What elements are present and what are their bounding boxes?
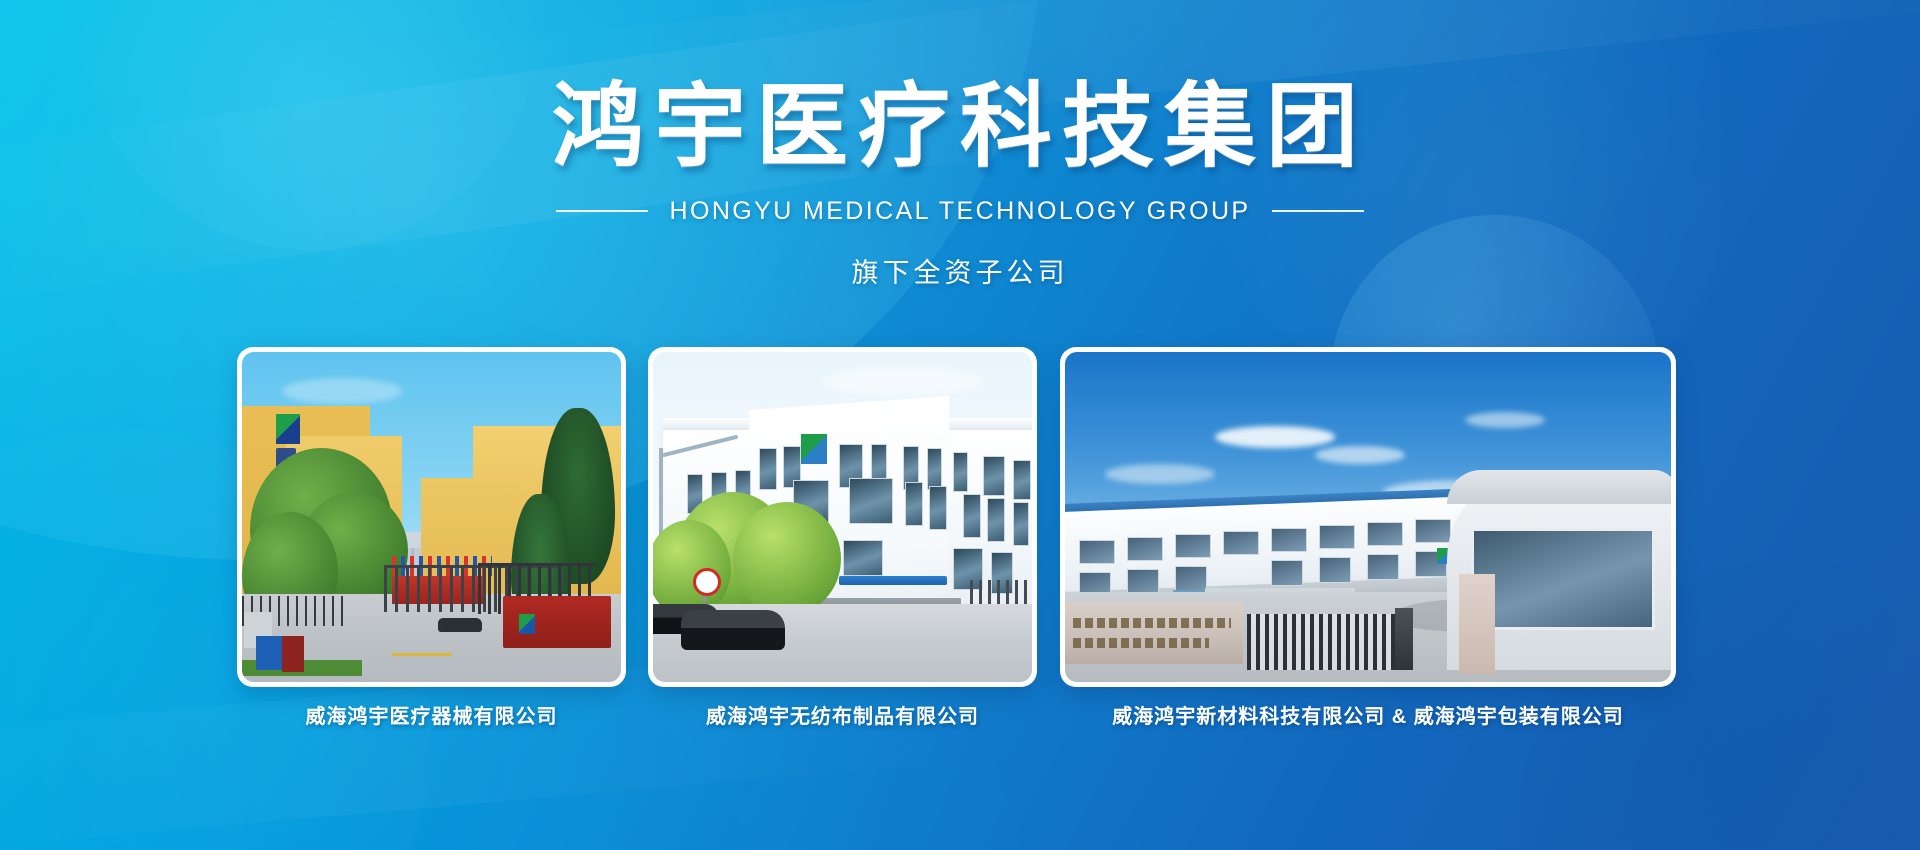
stone-sign-logo-icon (519, 614, 535, 634)
divider-line-right (1272, 210, 1364, 212)
parked-car (438, 618, 482, 632)
window (963, 494, 981, 538)
retractable-gate (1247, 614, 1397, 670)
building-logo-icon (801, 434, 827, 464)
caption-subsidiary-1: 威海鸿宇医疗器械有限公司 (237, 700, 626, 729)
cloud (823, 366, 983, 396)
cloud (1215, 426, 1335, 448)
blue-bin (256, 636, 282, 670)
window (1013, 502, 1029, 546)
subtitle-english: HONGYU MEDICAL TECHNOLOGY GROUP (670, 197, 1251, 226)
building-logo-icon (276, 414, 300, 444)
subsidiary-card-list (0, 347, 1920, 687)
red-bin (282, 636, 304, 672)
banner-header: 鸿宇医疗科技集团 HONGYU MEDICAL TECHNOLOGY GROUP… (0, 0, 1920, 290)
window (1271, 528, 1307, 552)
window (953, 452, 968, 492)
cloud (1105, 464, 1215, 484)
photo-new-materials-packaging-plant (1065, 352, 1671, 682)
cloud (1315, 446, 1405, 464)
window (927, 448, 942, 490)
window (983, 456, 1005, 496)
window (1013, 460, 1031, 500)
wall-inscription-line-1 (1073, 618, 1231, 628)
photo-nonwoven-office-building (653, 352, 1032, 682)
caption-subsidiary-2: 威海鸿宇无纺布制品有限公司 (648, 700, 1037, 729)
divider-line-left (556, 210, 648, 212)
caption-row: 威海鸿宇医疗器械有限公司 威海鸿宇无纺布制品有限公司 威海鸿宇新材料科技有限公司… (0, 700, 1920, 740)
window (1367, 522, 1403, 546)
company-group-banner: 鸿宇医疗科技集团 HONGYU MEDICAL TECHNOLOGY GROUP… (0, 0, 1920, 850)
window (1271, 560, 1303, 586)
window (849, 478, 893, 524)
window (1415, 519, 1451, 543)
window (759, 448, 777, 490)
gatehouse-roof-band (1447, 470, 1671, 504)
window (1175, 534, 1211, 558)
granite-pillar (1459, 574, 1495, 674)
company-name-wall (1065, 602, 1243, 664)
entrance-canopy (839, 576, 947, 585)
photo-medical-devices-campus (242, 352, 621, 682)
subsidiary-card-1[interactable] (237, 347, 626, 687)
gatehouse-window (1471, 528, 1655, 630)
window (1127, 537, 1163, 561)
tree-2 (733, 502, 841, 616)
subsidiary-card-2[interactable] (648, 347, 1037, 687)
cloud (1465, 412, 1545, 428)
window (1079, 540, 1115, 564)
cloud (282, 378, 402, 404)
window (1223, 531, 1259, 555)
window (905, 482, 923, 526)
window (1175, 566, 1207, 592)
subtitle-row: HONGYU MEDICAL TECHNOLOGY GROUP (0, 197, 1920, 226)
wall-inscription-line-2 (1073, 638, 1209, 648)
window (1367, 554, 1399, 580)
subsidiary-card-3[interactable] (1060, 347, 1676, 687)
window (929, 486, 947, 530)
window (987, 498, 1005, 542)
caption-subsidiary-3: 威海鸿宇新材料科技有限公司 & 威海鸿宇包装有限公司 (1060, 700, 1676, 729)
speed-limit-sign (693, 568, 721, 596)
window (1319, 557, 1351, 583)
window (843, 540, 883, 576)
parked-car-1 (681, 610, 785, 650)
window (1319, 525, 1355, 549)
road-marking (392, 653, 452, 656)
tagline: 旗下全资子公司 (0, 251, 1920, 290)
page-title: 鸿宇医疗科技集团 (0, 0, 1920, 181)
gate-control-box (1395, 608, 1413, 670)
